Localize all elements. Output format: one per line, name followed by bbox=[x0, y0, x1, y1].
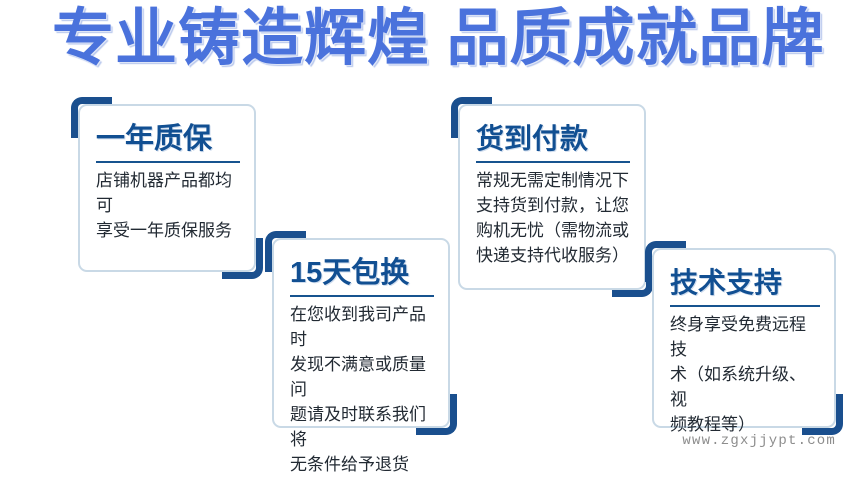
feature-card-exchange: 15天包换 在您收到我司产品时 发现不满意或质量问 题请及时联系我们将 无条件给… bbox=[272, 238, 450, 428]
card-title-exchange: 15天包换 bbox=[290, 256, 434, 290]
card-body-cash-on-delivery: 常规无需定制情况下 支持货到付款，让您 购机无忧（需物流或 快递支持代收服务） bbox=[476, 168, 630, 268]
feature-card-technical-support: 技术支持 终身享受免费远程技 术（如系统升级、视 频教程等） bbox=[652, 248, 836, 428]
feature-card-cash-on-delivery: 货到付款 常规无需定制情况下 支持货到付款，让您 购机无忧（需物流或 快递支持代… bbox=[458, 104, 646, 290]
card-content: 一年质保 店铺机器产品都均可 享受一年质保服务 bbox=[80, 106, 254, 270]
card-title-warranty: 一年质保 bbox=[96, 122, 240, 156]
card-body-technical-support: 终身享受免费远程技 术（如系统升级、视 频教程等） bbox=[670, 312, 820, 437]
card-divider bbox=[96, 161, 240, 163]
card-title-cash-on-delivery: 货到付款 bbox=[476, 122, 630, 156]
feature-card-warranty: 一年质保 店铺机器产品都均可 享受一年质保服务 bbox=[78, 104, 256, 272]
card-title-technical-support: 技术支持 bbox=[670, 266, 820, 300]
card-content: 技术支持 终身享受免费远程技 术（如系统升级、视 频教程等） bbox=[654, 250, 834, 426]
card-body-warranty: 店铺机器产品都均可 享受一年质保服务 bbox=[96, 168, 240, 243]
banner: 专业铸造辉煌 品质成就品牌 bbox=[0, 0, 843, 92]
card-divider bbox=[476, 161, 630, 163]
card-divider bbox=[290, 295, 434, 297]
card-divider bbox=[670, 305, 820, 307]
card-content: 货到付款 常规无需定制情况下 支持货到付款，让您 购机无忧（需物流或 快递支持代… bbox=[460, 106, 644, 288]
watermark-url: www.zgxjjypt.com bbox=[682, 433, 836, 449]
card-content: 15天包换 在您收到我司产品时 发现不满意或质量问 题请及时联系我们将 无条件给… bbox=[274, 240, 448, 426]
card-body-exchange: 在您收到我司产品时 发现不满意或质量问 题请及时联系我们将 无条件给予退货 bbox=[290, 302, 434, 477]
banner-title: 专业铸造辉煌 品质成就品牌 bbox=[52, 4, 825, 74]
